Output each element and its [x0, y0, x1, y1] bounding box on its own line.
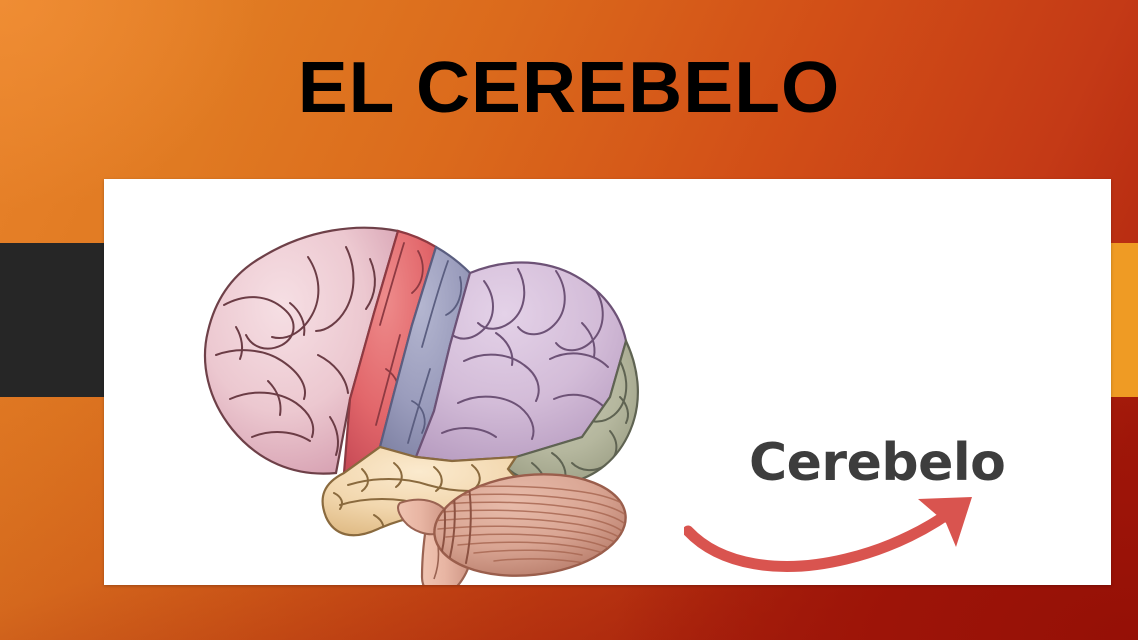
left-dark-accent-block — [0, 243, 106, 397]
brain-diagram-figure: Cerebelo — [104, 179, 1111, 585]
cerebelo-label: Cerebelo — [749, 433, 1005, 493]
page-title: EL CEREBELO — [0, 52, 1138, 124]
pointer-arrow-icon — [684, 479, 1014, 579]
right-amber-accent-block — [1108, 243, 1138, 397]
content-panel: Cerebelo — [104, 179, 1111, 585]
slide: EL CEREBELO — [0, 0, 1138, 640]
brain-illustration-icon — [112, 185, 712, 585]
